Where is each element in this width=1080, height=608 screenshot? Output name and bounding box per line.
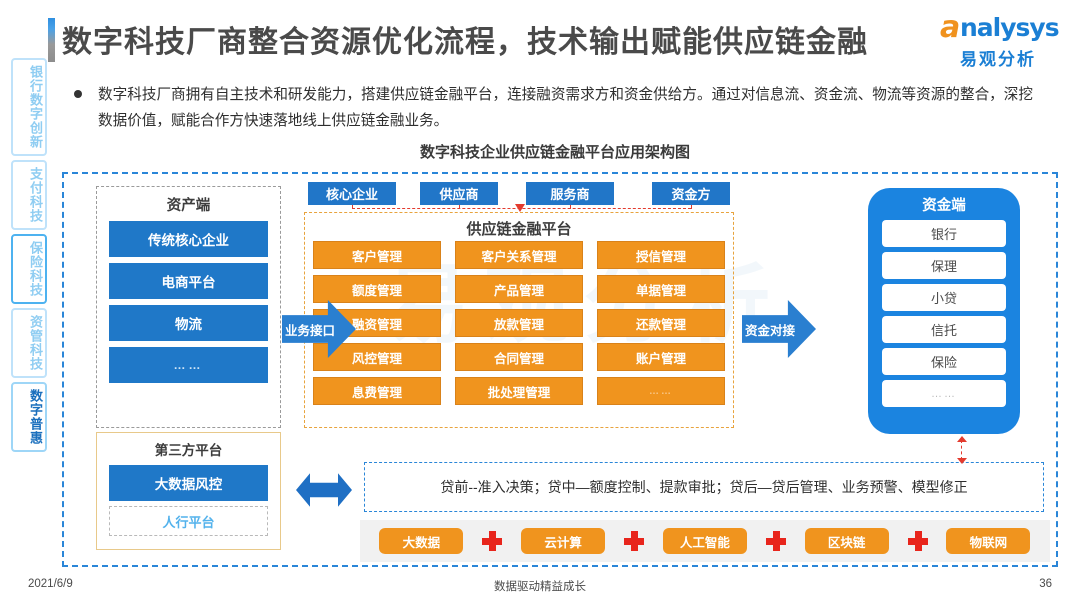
module-disbursement-mgmt[interactable]: 放款管理 <box>455 309 583 337</box>
logo-a-mark: a <box>940 10 960 45</box>
logo-chinese: 易观分析 <box>938 45 1058 70</box>
platform-module-grid: 客户管理 客户关系管理 授信管理 额度管理 产品管理 单据管理 融资管理 放款管… <box>313 241 725 405</box>
connector-service-stub <box>570 205 571 209</box>
module-contract-mgmt[interactable]: 合同管理 <box>455 343 583 371</box>
funding-item-trust[interactable]: 信托 <box>882 316 1006 343</box>
plus-icon <box>908 531 928 551</box>
sidebar-item-insurance[interactable]: 保险科技 <box>11 234 47 304</box>
asset-item-logistics[interactable]: 物流 <box>109 305 268 341</box>
tech-stack-band: 大数据 云计算 人工智能 区块链 物联网 <box>360 520 1050 562</box>
module-crm[interactable]: 客户关系管理 <box>455 241 583 269</box>
plus-icon <box>766 531 786 551</box>
module-more[interactable]: …… <box>597 377 725 405</box>
side-tab-list: 银行数字创新 支付科技 保险科技 资管科技 数字普惠 <box>11 58 47 456</box>
module-product-mgmt[interactable]: 产品管理 <box>455 275 583 303</box>
supply-chain-finance-platform: 供应链金融平台 客户管理 客户关系管理 授信管理 额度管理 产品管理 单据管理 … <box>304 212 734 428</box>
arrow-bidirectional-icon <box>296 470 352 510</box>
arrow-business-interface: 业务接口 <box>282 300 356 358</box>
funding-item-microloan[interactable]: 小贷 <box>882 284 1006 311</box>
tag-service-provider[interactable]: 服务商 <box>526 182 614 205</box>
asset-item-core-enterprise[interactable]: 传统核心企业 <box>109 221 268 257</box>
logo-wordmark: a nalysys <box>938 12 1058 42</box>
sidebar-item-payment[interactable]: 支付科技 <box>11 160 47 230</box>
arrow-up-icon <box>957 436 967 442</box>
sidebar-item-banking[interactable]: 银行数字创新 <box>11 58 47 156</box>
title-accent-bar <box>48 18 55 62</box>
funding-item-factoring[interactable]: 保理 <box>882 252 1006 279</box>
tag-core-enterprise[interactable]: 核心企业 <box>308 182 396 205</box>
bullet-marker-icon <box>74 90 82 98</box>
connector-supplier-stub <box>459 205 460 209</box>
platform-title: 供应链金融平台 <box>305 218 733 239</box>
footer-tagline: 数据驱动精益成长 <box>0 578 1080 594</box>
tech-ai[interactable]: 人工智能 <box>663 528 747 554</box>
diagram-subtitle: 数字科技企业供应链金融平台应用架构图 <box>0 141 1080 162</box>
asset-side-title: 资产端 <box>97 194 280 215</box>
footer: 2021/6/9 数据驱动精益成长 36 <box>0 578 1080 598</box>
tag-funder[interactable]: 资金方 <box>652 182 730 205</box>
connector-line <box>961 440 962 460</box>
third-party-bigdata-riskcontrol[interactable]: 大数据风控 <box>109 465 268 501</box>
module-customer-mgmt[interactable]: 客户管理 <box>313 241 441 269</box>
connector-funder-stub <box>691 205 692 209</box>
tech-blockchain[interactable]: 区块链 <box>805 528 889 554</box>
funding-item-insurance[interactable]: 保险 <box>882 348 1006 375</box>
asset-item-ecommerce[interactable]: 电商平台 <box>109 263 268 299</box>
plus-icon <box>624 531 644 551</box>
third-party-title: 第三方平台 <box>97 439 280 459</box>
tech-bigdata[interactable]: 大数据 <box>379 528 463 554</box>
funding-item-more[interactable]: …… <box>882 380 1006 407</box>
connector-core-stub <box>352 205 353 209</box>
module-batch-mgmt[interactable]: 批处理管理 <box>455 377 583 405</box>
asset-side-panel: 资产端 传统核心企业 电商平台 物流 …… <box>96 186 281 428</box>
asset-item-more[interactable]: …… <box>109 347 268 383</box>
third-party-panel: 第三方平台 大数据风控 人行平台 <box>96 432 281 550</box>
module-repayment-mgmt[interactable]: 还款管理 <box>597 309 725 337</box>
arrow-funding-connect: 资金对接 <box>742 300 816 358</box>
module-account-mgmt[interactable]: 账户管理 <box>597 343 725 371</box>
tag-supplier[interactable]: 供应商 <box>420 182 498 205</box>
connector-down-arrow-icon <box>515 204 525 212</box>
analysys-logo: a nalysys 易观分析 <box>938 12 1058 66</box>
sidebar-item-asset-mgmt[interactable]: 资管科技 <box>11 308 47 378</box>
tech-cloud[interactable]: 云计算 <box>521 528 605 554</box>
logo-text: nalysys <box>960 13 1059 42</box>
tech-iot[interactable]: 物联网 <box>946 528 1030 554</box>
funding-item-bank[interactable]: 银行 <box>882 220 1006 247</box>
bullet-paragraph: 数字科技厂商拥有自主技术和研发能力，搭建供应链金融平台，连接融资需求方和资金供给… <box>98 82 1033 134</box>
arrow-down-icon <box>957 458 967 464</box>
funding-side-panel: 资金端 银行 保理 小贷 信托 保险 …… <box>868 188 1020 434</box>
architecture-diagram: 易观分析 资产端 传统核心企业 电商平台 物流 …… 第三方平台 大数据风控 人… <box>62 172 1058 567</box>
arrow-double-shape <box>296 470 352 510</box>
module-limit-mgmt[interactable]: 额度管理 <box>313 275 441 303</box>
third-party-pboc-platform[interactable]: 人行平台 <box>109 506 268 536</box>
sidebar-item-inclusive-finance[interactable]: 数字普惠 <box>11 382 47 452</box>
module-credit-mgmt[interactable]: 授信管理 <box>597 241 725 269</box>
module-document-mgmt[interactable]: 单据管理 <box>597 275 725 303</box>
slide-page: 数字科技厂商整合资源优化流程，技术输出赋能供应链金融 a nalysys 易观分… <box>0 0 1080 608</box>
arrow-funding-connect-label: 资金对接 <box>745 320 795 339</box>
page-title: 数字科技厂商整合资源优化流程，技术输出赋能供应链金融 <box>62 17 868 61</box>
module-fee-mgmt[interactable]: 息费管理 <box>313 377 441 405</box>
plus-icon <box>482 531 502 551</box>
footer-page-number: 36 <box>1039 578 1052 590</box>
connector-funding-lifecycle <box>956 436 968 464</box>
loan-lifecycle-box: 贷前--准入决策；贷中—额度控制、提款审批；贷后—贷后管理、业务预警、模型修正 <box>364 462 1044 512</box>
arrow-business-interface-label: 业务接口 <box>285 320 335 339</box>
funding-side-title: 资金端 <box>868 188 1020 215</box>
